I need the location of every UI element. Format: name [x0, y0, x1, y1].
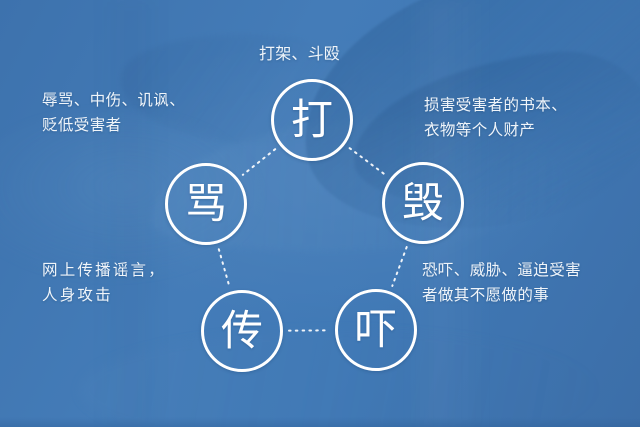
node-da-label: 打 — [291, 99, 333, 141]
caption-top-fighting: 打架、斗殴 — [259, 42, 340, 67]
campaign-poster: 打 骂 毁 传 吓 打架、斗殴 辱骂、中伤、讥讽、 贬低受害者 损害受害者的书本… — [0, 0, 640, 427]
node-ma-scold[interactable]: 骂 — [165, 163, 247, 245]
node-xia-label: 吓 — [355, 309, 397, 351]
node-xia-intimidate[interactable]: 吓 — [335, 289, 417, 371]
connector-hui-to-xia — [392, 247, 406, 286]
caption-lower-right-intimidation: 恐吓、威胁、逼迫受害 者做其不愿做的事 — [422, 258, 638, 308]
node-hui-destroy[interactable]: 毁 — [382, 162, 464, 244]
connector-da-to-hui — [350, 148, 386, 175]
caption-lower-left-online-rumors: 网上传播谣言， 人身攻击 — [42, 258, 257, 308]
node-ma-label: 骂 — [185, 183, 227, 225]
connector-da-to-ma — [243, 149, 275, 175]
caption-upper-right-property-damage: 损害受害者的书本、 衣物等个人财产 — [424, 93, 636, 143]
caption-upper-left-verbal-abuse: 辱骂、中伤、讥讽、 贬低受害者 — [42, 88, 252, 138]
node-da-hit[interactable]: 打 — [271, 79, 353, 161]
node-chuan-label: 传 — [221, 310, 263, 352]
node-hui-label: 毁 — [402, 182, 444, 224]
